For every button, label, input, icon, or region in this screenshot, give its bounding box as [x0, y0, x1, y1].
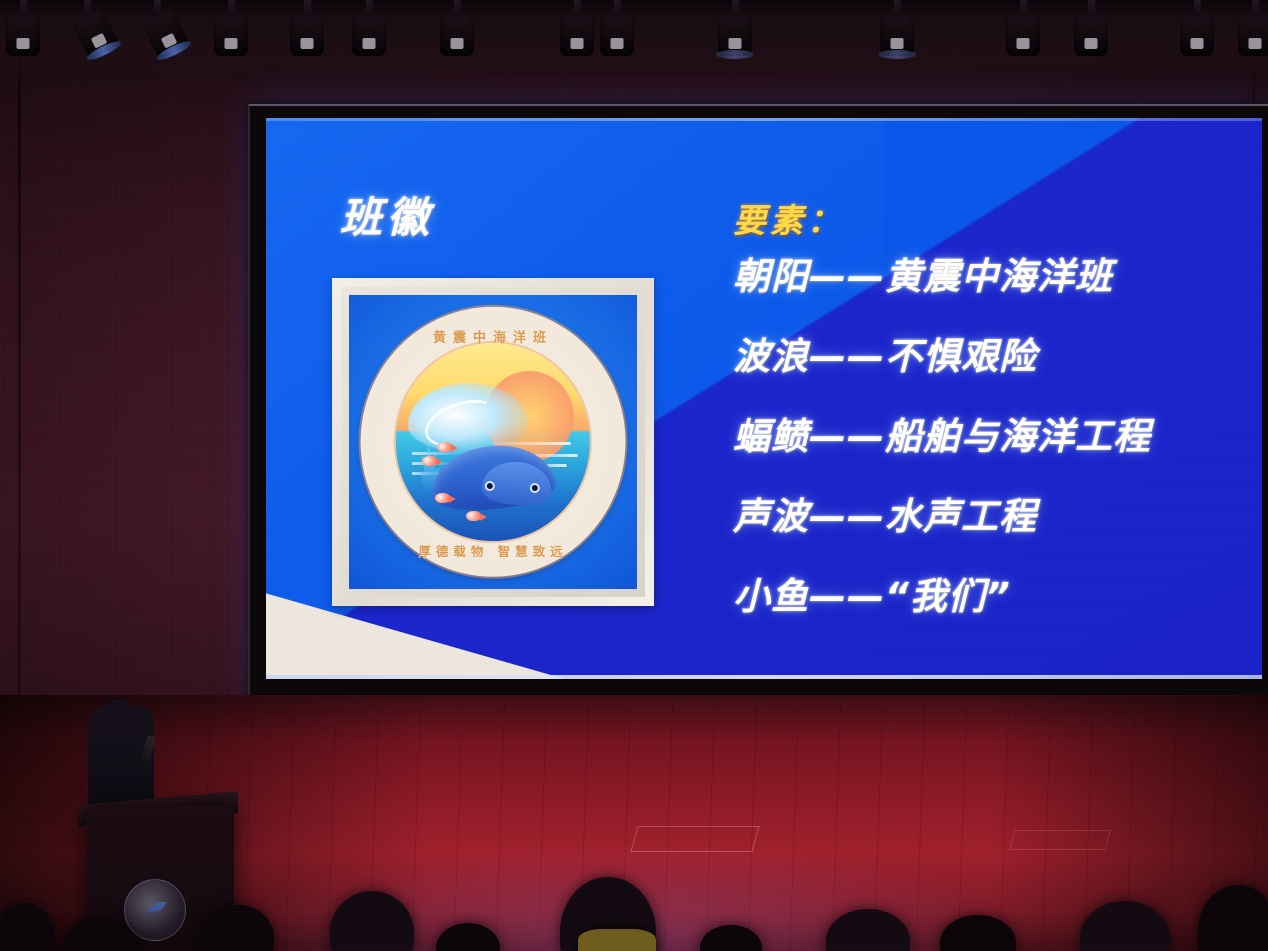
- auditorium-scene: 班徽 黄震中海洋班 厚德载物 智慧致远: [0, 0, 1268, 951]
- small-fish-icon: [466, 511, 481, 521]
- audience-head: [202, 905, 274, 951]
- spotlight-icon: [880, 0, 914, 56]
- audience-shoulders: [578, 929, 656, 951]
- small-fish-icon: [435, 493, 450, 503]
- lighting-truss: [0, 0, 1268, 100]
- screen-display-area: 班徽 黄震中海洋班 厚德载物 智慧致远: [266, 118, 1262, 679]
- elements-list: 朝阳——黄震中海洋班 波浪——不惧艰险 蝠鲼——船舶与海洋工程 声波——水声工程…: [733, 258, 1262, 658]
- spotlight-icon: [140, 0, 174, 56]
- audience-head: [940, 915, 1016, 951]
- element-line: 声波——水声工程: [733, 498, 1262, 535]
- slide-bottom-edge: [266, 675, 1262, 679]
- led-presentation-screen: 班徽 黄震中海洋班 厚德载物 智慧致远: [248, 104, 1268, 695]
- audience-row: [0, 811, 1268, 951]
- spotlight-icon: [600, 0, 634, 56]
- audience-head: [0, 903, 54, 951]
- audience-head: [1080, 901, 1170, 951]
- spotlight-icon: [1238, 0, 1268, 56]
- spotlight-icon: [718, 0, 752, 56]
- audience-head: [62, 919, 136, 951]
- class-emblem-frame: 黄震中海洋班 厚德载物 智慧致远: [332, 278, 654, 606]
- spotlight-icon: [560, 0, 594, 56]
- sound-wave-icon: [483, 442, 570, 445]
- slide-title: 班徽: [340, 184, 434, 245]
- audience-head: [826, 909, 910, 951]
- small-fish-icon: [437, 442, 452, 452]
- spotlight-icon: [290, 0, 324, 56]
- emblem-scene: [396, 343, 589, 540]
- audience-head: [700, 925, 762, 951]
- element-line: 波浪——不惧艰险: [733, 338, 1262, 375]
- sound-wave-icon: [412, 452, 466, 455]
- element-line: 朝阳——黄震中海洋班: [733, 258, 1262, 295]
- spotlight-icon: [1006, 0, 1040, 56]
- emblem-plate: 黄震中海洋班 厚德载物 智慧致远: [349, 295, 637, 589]
- presentation-slide: 班徽 黄震中海洋班 厚德载物 智慧致远: [266, 118, 1262, 679]
- spotlight-icon: [70, 0, 104, 56]
- audience-head: [436, 923, 500, 951]
- spotlight-icon: [1074, 0, 1108, 56]
- spotlight-icon: [440, 0, 474, 56]
- spotlight-icon: [1180, 0, 1214, 56]
- small-fish-icon: [421, 456, 436, 466]
- spotlight-icon: [6, 0, 40, 56]
- element-line: 蝠鲼——船舶与海洋工程: [733, 418, 1262, 455]
- audience-head: [1198, 885, 1268, 951]
- element-line: 小鱼——“我们”: [733, 578, 1262, 615]
- audience-head: [330, 891, 414, 951]
- elements-heading: 要素：: [733, 194, 844, 242]
- emblem-mat: 黄震中海洋班 厚德载物 智慧致远: [341, 287, 645, 597]
- slide-top-edge: [266, 118, 1262, 121]
- spotlight-icon: [214, 0, 248, 56]
- spotlight-icon: [352, 0, 386, 56]
- emblem-arc-text-bottom: 厚德载物 智慧致远: [361, 541, 626, 560]
- emblem-ring: 黄震中海洋班 厚德载物 智慧致远: [361, 307, 626, 577]
